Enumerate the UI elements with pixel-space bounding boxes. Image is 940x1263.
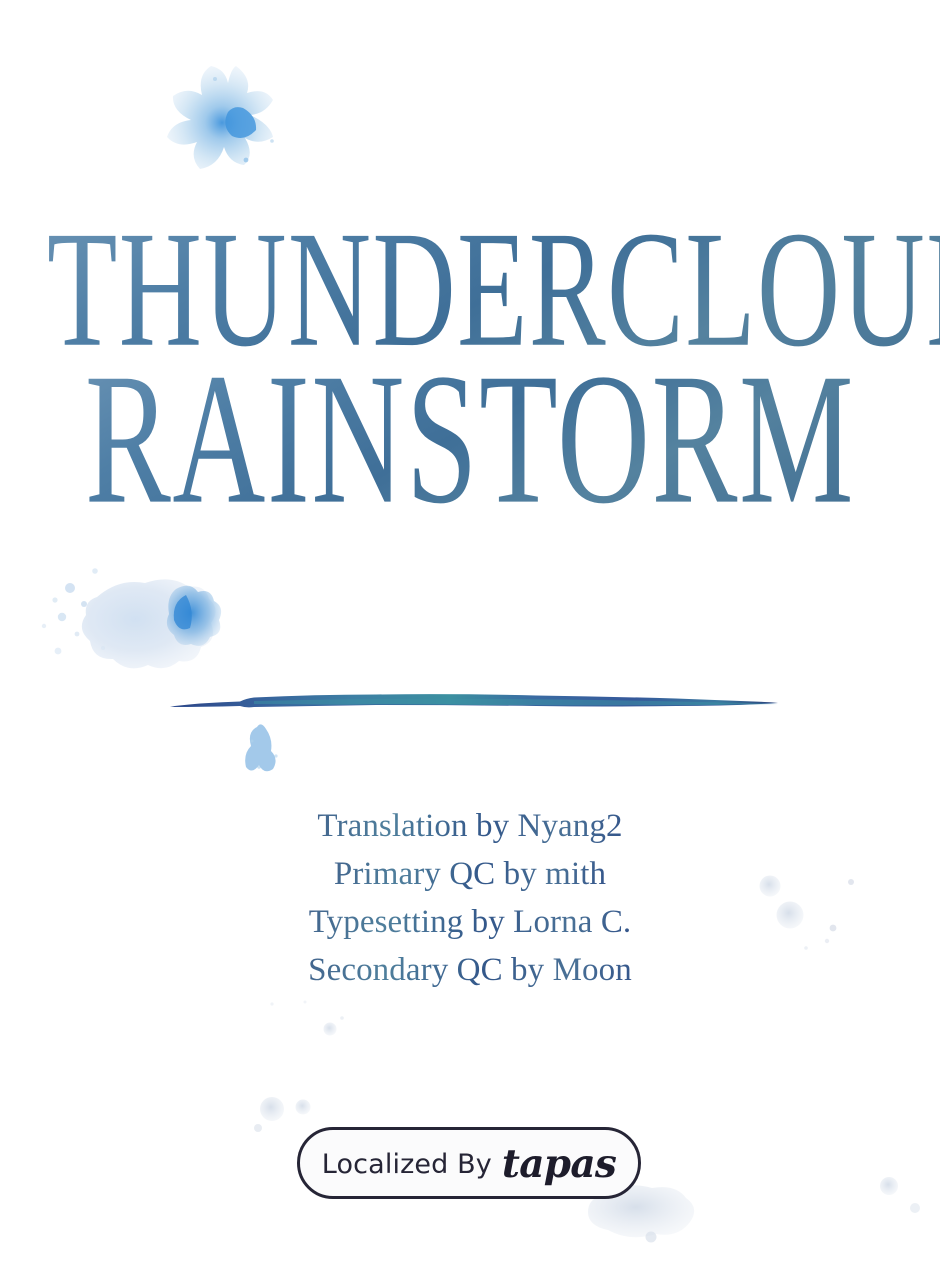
byline: Art by ete, Original story by CAESIM: [0, 634, 940, 670]
staff-credits: Translation by Nyang2 Primary QC by mith…: [0, 802, 940, 994]
lower-faint-droplets: [254, 1001, 344, 1133]
localized-by-label: Localized By: [322, 1151, 492, 1178]
credit-line: Secondary QC by Moon: [0, 946, 940, 994]
credit-line: Translation by Nyang2: [0, 802, 940, 850]
brush-stroke-divider: [168, 693, 780, 715]
page-title: THUNDERCLOUD RAINSTORM: [0, 228, 940, 507]
credit-line: Typesetting by Lorna C.: [0, 898, 940, 946]
title-line-rainstorm: RAINSTORM: [38, 350, 903, 530]
tapas-logo: tapas: [502, 1145, 616, 1184]
watercolor-decoration-layer: [0, 0, 940, 1263]
divider-splash: [245, 724, 277, 771]
localized-by-tapas-badge[interactable]: Localized By tapas: [297, 1127, 641, 1199]
top-center-splatter: [167, 66, 274, 169]
title-credits-page: THUNDERCLOUD RAINSTORM Art by ete, Origi…: [0, 0, 940, 1263]
credit-line: Primary QC by mith: [0, 850, 940, 898]
bottom-right-wash: [588, 1177, 920, 1243]
byline-text: Art by ete, Original story by CAESIM: [214, 634, 727, 670]
